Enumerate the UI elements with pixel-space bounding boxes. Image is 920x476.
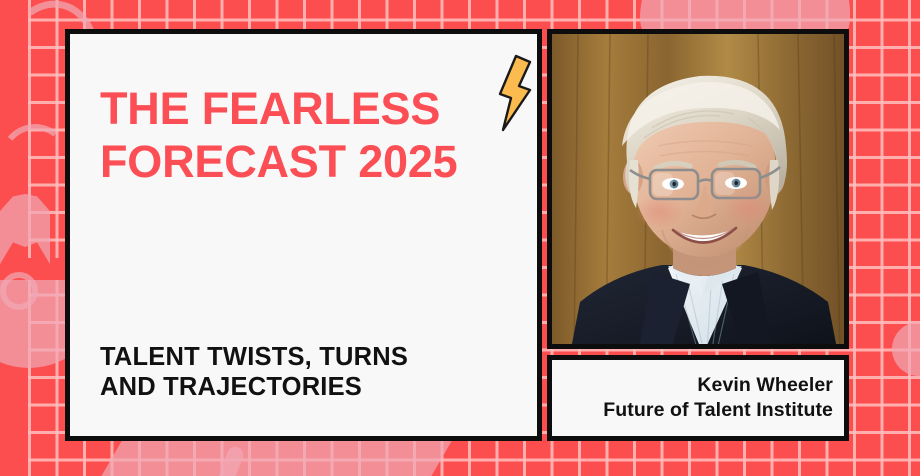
speaker-photo-image xyxy=(552,34,844,344)
subhead-line-2: AND TRAJECTORIES xyxy=(100,372,520,402)
headline-line-2: FORECAST 2025 xyxy=(100,135,500,188)
speaker-name-card: Kevin Wheeler Future of Talent Institute xyxy=(547,355,849,441)
page-title: THE FEARLESS FORECAST 2025 xyxy=(100,82,500,188)
portrait-illustration xyxy=(552,34,844,344)
page-subtitle: TALENT TWISTS, TURNS AND TRAJECTORIES xyxy=(100,342,520,402)
headline-line-1: THE FEARLESS xyxy=(100,82,500,135)
speaker-organization: Future of Talent Institute xyxy=(603,398,833,423)
poster-canvas: THE FEARLESS FORECAST 2025 TALENT TWISTS… xyxy=(0,0,920,476)
title-card: THE FEARLESS FORECAST 2025 TALENT TWISTS… xyxy=(65,29,542,441)
speaker-photo xyxy=(547,29,849,349)
decor-bottom-ring-shape xyxy=(0,272,38,310)
subhead-line-1: TALENT TWISTS, TURNS xyxy=(100,342,520,372)
speaker-name: Kevin Wheeler xyxy=(697,373,833,398)
